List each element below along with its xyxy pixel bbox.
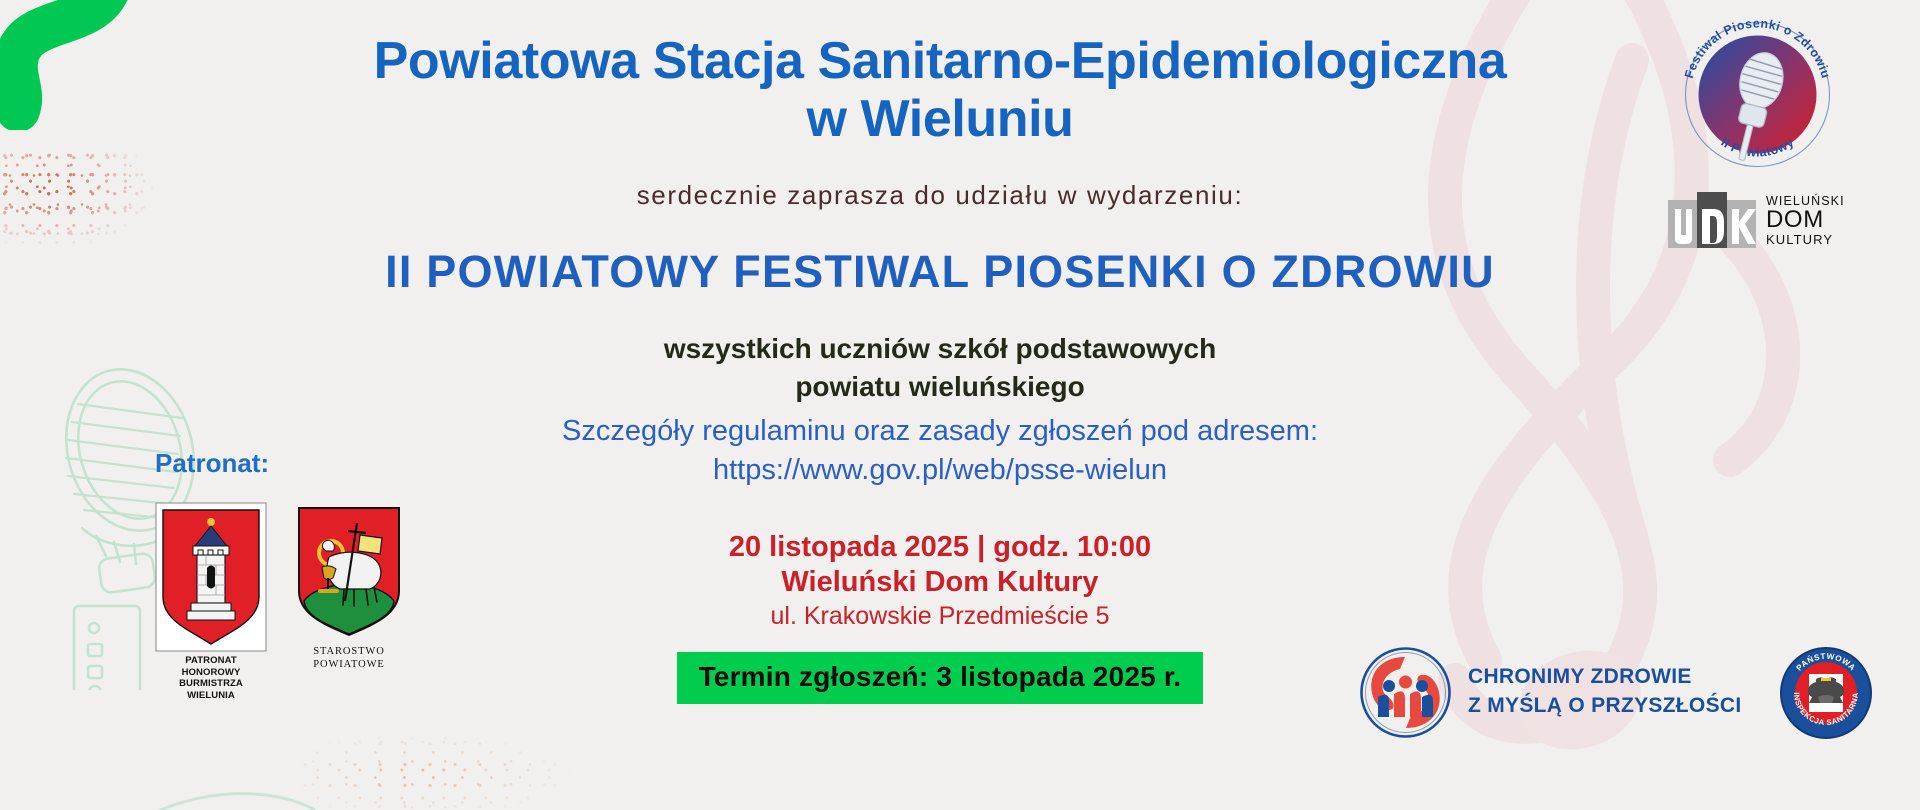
organization-title: Powiatowa Stacja Sanitarno-Epidemiologic… [240,32,1640,148]
event-datetime: 20 listopada 2025 | godz. 10:00 [340,530,1540,565]
organization-title-line1: Powiatowa Stacja Sanitarno-Epidemiologic… [240,32,1640,90]
wdk-logo: WIELUŃSKI DOM KULTURY [1668,185,1848,257]
audience-line2: powiatu wieluńskiego [300,368,1580,406]
slogan-line2: Z MYŚLĄ O PRZYSZŁOŚCI [1468,692,1741,721]
wdk-line2: DOM [1766,207,1845,234]
coat-of-arms-wielun-caption: PATRONAT HONOROWY BURMISTRZA WIELUNIA [155,655,267,701]
invitation-line: serdecznie zaprasza do udziału w wydarze… [240,180,1640,211]
panstwowa-inspekcja-sanitarna-seal: PAŃSTWOWA INSPEKCJA SANITARNA [1778,645,1874,741]
sanitary-slogan: CHRONIMY ZDROWIE Z MYŚLĄ O PRZYSZŁOŚCI [1468,663,1741,721]
coat-of-arms-starostwo-caption: STAROSTWO POWIATOWE [296,646,402,672]
coat-of-arms-starostwo: STAROSTWO POWIATOWE [296,505,402,672]
festival-title: II POWIATOWY FESTIWAL PIOSENKI O ZDROWIU [200,246,1680,298]
poster-canvas: Powiatowa Stacja Sanitarno-Epidemiologic… [0,0,1920,810]
details-block: Szczegóły regulaminu oraz zasady zgłosze… [300,412,1580,490]
slogan-line1: CHRONIMY ZDROWIE [1468,663,1741,692]
patronage-label: Patronat: [155,448,269,479]
organization-title-line2: w Wieluniu [240,90,1640,148]
audience-description: wszystkich uczniów szkół podstawowych po… [300,330,1580,405]
event-venue: Wieluński Dom Kultury [340,566,1540,599]
wdk-logo-text: WIELUŃSKI DOM KULTURY [1766,194,1845,247]
event-address: ul. Krakowskie Przedmieście 5 [340,602,1540,631]
caption-line2: BURMISTRZA WIELUNIA [155,678,267,701]
details-intro: Szczegóły regulaminu oraz zasady zgłosze… [300,412,1580,451]
festival-badge-logo: Festiwal Piosenki o Zdrowiu II Powiatowy [1675,12,1840,177]
wdk-line3: KULTURY [1766,233,1845,248]
deadline-badge: Termin zgłoszeń: 3 listopada 2025 r. [677,652,1204,704]
details-url[interactable]: https://www.gov.pl/web/psse-wielun [300,451,1580,490]
gis-hands-logo [1358,645,1453,740]
coat-of-arms-wielun: PATRONAT HONOROWY BURMISTRZA WIELUNIA [155,502,267,701]
caption-line1: PATRONAT HONOROWY [155,655,267,678]
audience-line1: wszystkich uczniów szkół podstawowych [300,330,1580,368]
wdk-monogram-icon [1668,192,1756,250]
